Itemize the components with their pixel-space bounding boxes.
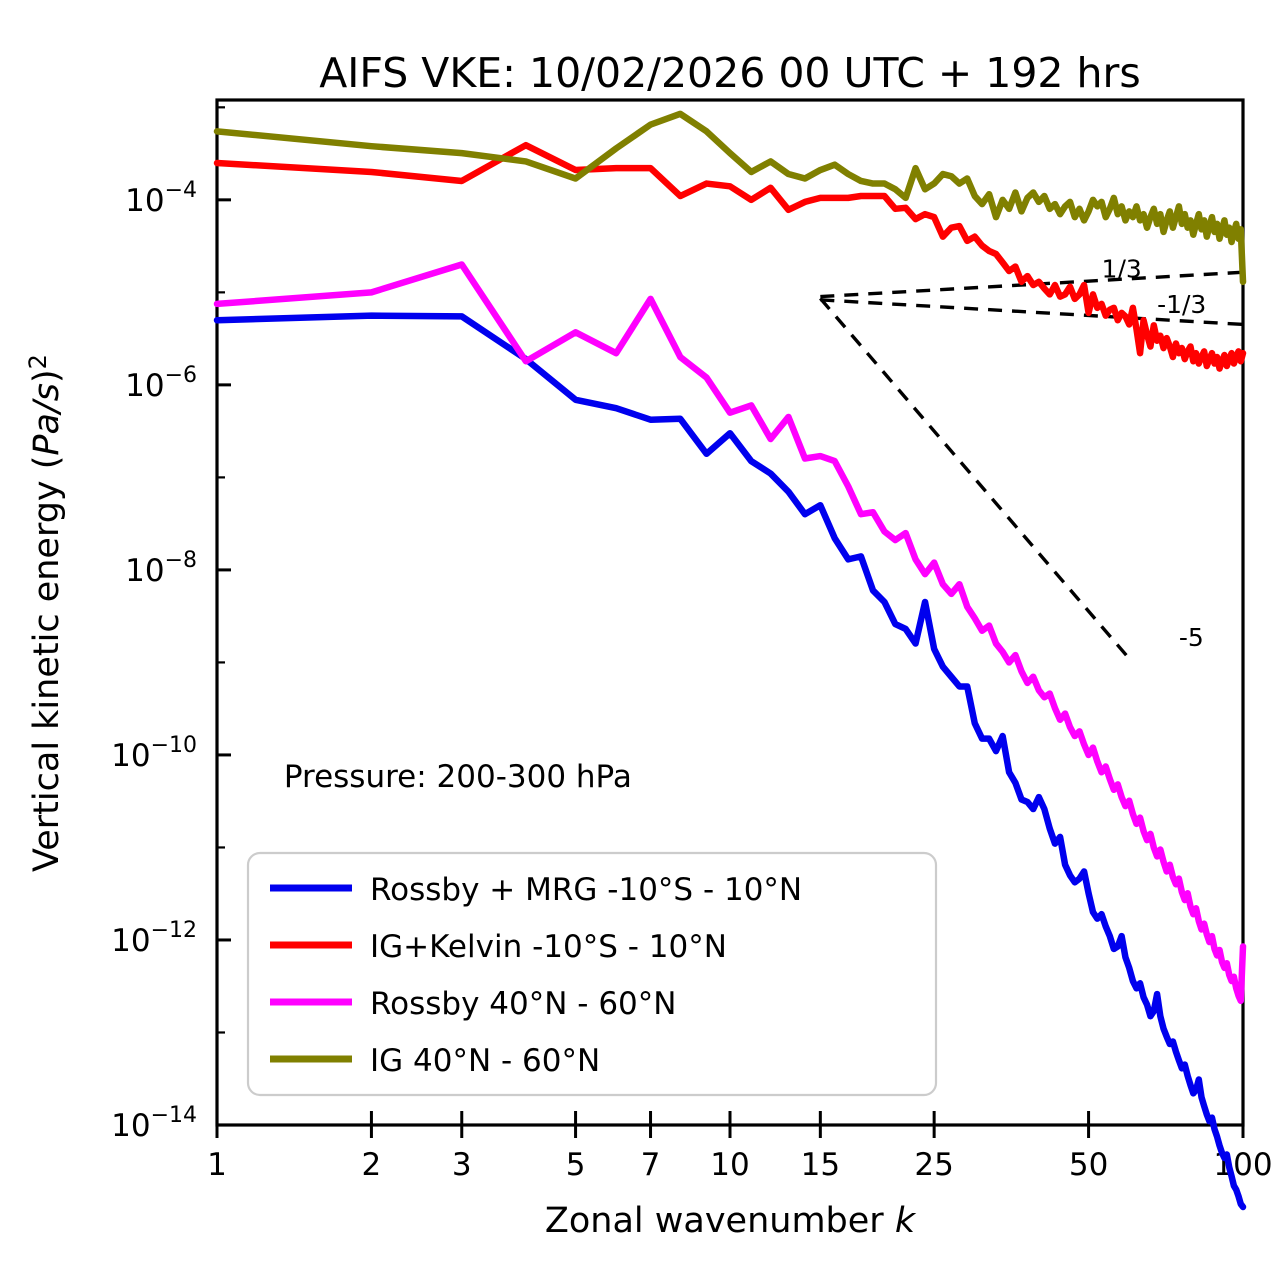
x-axis-label: Zonal wavenumber k	[545, 1201, 917, 1241]
y-tick-label: 10−4	[125, 178, 197, 219]
y-tick-label: 10−10	[111, 733, 197, 774]
x-tick-label: 5	[566, 1147, 586, 1183]
x-tick-label: 50	[1069, 1147, 1108, 1183]
x-tick-label: 1	[207, 1147, 227, 1183]
y-tick-label: 10−12	[111, 918, 197, 959]
y-axis-label-units: Pa/s	[27, 383, 67, 456]
legend-item-ig-kelvin-label[interactable]: IG+Kelvin -10°S - 10°N	[370, 929, 727, 965]
y-tick-label: 10−14	[111, 1103, 197, 1144]
legend-item-rossby-nh-label[interactable]: Rossby 40°N - 60°N	[370, 986, 676, 1022]
slope-minus-five	[820, 298, 1129, 658]
x-tick-label: 3	[452, 1147, 472, 1183]
y-axis-label-part1: Vertical kinetic energy (	[27, 456, 67, 872]
y-tick-label: 10−6	[125, 363, 197, 404]
x-tick-label: 10	[710, 1147, 749, 1183]
y-axis-ticks: 10−410−610−810−1010−1210−14	[111, 107, 231, 1144]
x-axis-label-symbol: k	[895, 1201, 917, 1241]
x-tick-label: 2	[362, 1147, 382, 1183]
y-axis-label-exponent: 2	[24, 354, 52, 369]
y-tick-label: 10−8	[125, 548, 197, 589]
x-tick-label: 15	[801, 1147, 840, 1183]
y-axis-label-part2: )	[27, 369, 67, 383]
slope-label-plus-one-third: 1/3	[1102, 254, 1142, 283]
series-line-ig-kelvin-10-s-10-n	[217, 145, 1243, 368]
slope-label-minus-five: -5	[1179, 623, 1204, 652]
pressure-annotation: Pressure: 200-300 hPa	[284, 759, 632, 795]
legend-item-rossby-mrg-label[interactable]: Rossby + MRG -10°S - 10°N	[370, 872, 802, 908]
chart-title: AIFS VKE: 10/02/2026 00 UTC + 192 hrs	[319, 49, 1140, 97]
x-tick-label: 25	[914, 1147, 953, 1183]
chart-figure: AIFS VKE: 10/02/2026 00 UTC + 192 hrs Ve…	[0, 0, 1280, 1288]
chart-legend[interactable]: Rossby + MRG -10°S - 10°NIG+Kelvin -10°S…	[248, 853, 936, 1095]
y-axis-label: Vertical kinetic energy (Pa/s)2	[24, 354, 67, 872]
legend-item-ig-nh-label[interactable]: IG 40°N - 60°N	[370, 1043, 600, 1079]
x-tick-label: 7	[641, 1147, 661, 1183]
slope-label-minus-one-third: -1/3	[1157, 290, 1206, 319]
x-axis-ticks: 1235710152550100	[207, 1111, 1272, 1183]
series-line-ig-40-n-60-n	[217, 114, 1243, 282]
x-axis-label-part1: Zonal wavenumber	[545, 1201, 895, 1241]
